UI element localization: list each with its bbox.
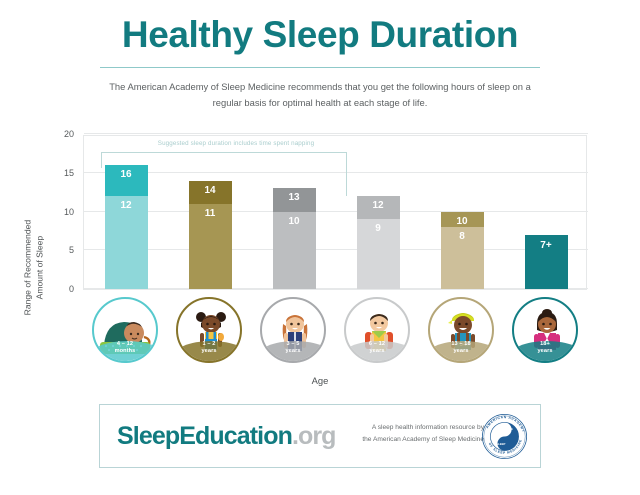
brand-primary: SleepEducation bbox=[117, 422, 292, 450]
gridline bbox=[84, 211, 588, 212]
page-title: Healthy Sleep Duration bbox=[0, 16, 640, 55]
age-label-line1: 3 – 5 bbox=[262, 341, 324, 349]
bracket-bar bbox=[101, 152, 347, 153]
bar-segment-upper: 10 bbox=[441, 212, 484, 228]
age-group-circles: 4 – 12months 1 – 2years bbox=[0, 297, 640, 369]
bar[interactable]: 7+ bbox=[525, 235, 568, 289]
age-label-line1: 4 – 12 bbox=[94, 341, 156, 349]
subtitle: The American Academy of Sleep Medicine r… bbox=[94, 79, 546, 110]
age-group-label: 1 – 2years bbox=[178, 341, 240, 356]
age-label-line1: 1 – 2 bbox=[178, 341, 240, 349]
napping-bracket bbox=[101, 152, 347, 200]
gridline bbox=[84, 249, 588, 250]
bar-segment-lower: 12 bbox=[105, 196, 148, 289]
age-group-circle[interactable]: 18+years bbox=[512, 297, 578, 363]
brand-wordmark[interactable]: SleepEducation.org bbox=[117, 422, 336, 451]
bar-segment-lower: 11 bbox=[189, 204, 232, 289]
bar[interactable]: 129 bbox=[357, 196, 400, 289]
age-label-line1: 13 – 18 bbox=[430, 341, 492, 349]
seal-inner-bottom: SLEEP bbox=[496, 442, 505, 446]
age-label-line2: years bbox=[514, 348, 576, 356]
age-label-line2: years bbox=[430, 348, 492, 356]
gridline bbox=[84, 133, 588, 134]
age-group-circle[interactable]: 6 – 12years bbox=[344, 297, 410, 363]
bar-value-lower: 10 bbox=[273, 216, 316, 227]
age-group-label: 18+years bbox=[514, 341, 576, 356]
brand-secondary: .org bbox=[292, 422, 336, 450]
napping-annotation: Suggested sleep duration includes time s… bbox=[86, 140, 386, 147]
header: Healthy Sleep Duration The American Acad… bbox=[0, 16, 640, 110]
age-label-line2: years bbox=[262, 348, 324, 356]
footer: SleepEducation.org A sleep health inform… bbox=[99, 404, 541, 468]
y-tick-label: 0 bbox=[40, 284, 74, 294]
x-axis-label: Age bbox=[0, 375, 640, 386]
footer-tagline: A sleep health information resource by t… bbox=[362, 422, 484, 445]
age-label-line1: 18+ bbox=[514, 341, 576, 349]
age-group-circle[interactable]: 1 – 2years bbox=[176, 297, 242, 363]
age-label-line1: 6 – 12 bbox=[346, 341, 408, 349]
title-divider bbox=[100, 67, 540, 69]
y-tick-label: 5 bbox=[40, 245, 74, 255]
bar-segment-lower: 8 bbox=[441, 227, 484, 289]
bar-value-lower: 8 bbox=[441, 231, 484, 242]
age-group-label: 3 – 5years bbox=[262, 341, 324, 356]
age-label-line2: months bbox=[94, 348, 156, 356]
bar-value-upper: 10 bbox=[441, 216, 484, 227]
age-group-label: 13 – 18years bbox=[430, 341, 492, 356]
bar-segment-upper: 7+ bbox=[525, 235, 568, 289]
y-tick-label: 10 bbox=[40, 207, 74, 217]
infographic-poster: Healthy Sleep Duration The American Acad… bbox=[0, 0, 640, 495]
bracket-leg-right bbox=[346, 152, 347, 196]
seal-inner-top: WAKE bbox=[505, 427, 514, 431]
y-tick-label: 20 bbox=[40, 129, 74, 139]
bracket-leg-left bbox=[101, 152, 102, 168]
bar-segment-upper: 12 bbox=[357, 196, 400, 219]
age-label-line2: years bbox=[346, 348, 408, 356]
age-label-line2: years bbox=[178, 348, 240, 356]
bar[interactable]: 108 bbox=[441, 212, 484, 290]
bar-segment-lower: 9 bbox=[357, 219, 400, 289]
age-group-circle[interactable]: 3 – 5years bbox=[260, 297, 326, 363]
age-group-circle[interactable]: 54 13 – 18years bbox=[428, 297, 494, 363]
aasm-seal-icon: AMERICAN ACADEMY OF SLEEP MEDICINE WAKE … bbox=[481, 413, 528, 460]
bar-value-upper: 12 bbox=[357, 200, 400, 211]
bar-value-lower: 9 bbox=[357, 223, 400, 234]
age-group-label: 6 – 12years bbox=[346, 341, 408, 356]
bar-value-lower: 12 bbox=[105, 200, 148, 211]
y-tick-label: 15 bbox=[40, 168, 74, 178]
bar-value-upper: 7+ bbox=[525, 240, 568, 251]
age-group-circle[interactable]: 4 – 12months bbox=[92, 297, 158, 363]
bar[interactable]: 1310 bbox=[273, 188, 316, 289]
age-group-label: 4 – 12months bbox=[94, 341, 156, 356]
gridline bbox=[84, 288, 588, 289]
bar-segment-lower: 10 bbox=[273, 212, 316, 290]
bar-value-lower: 11 bbox=[189, 208, 232, 219]
